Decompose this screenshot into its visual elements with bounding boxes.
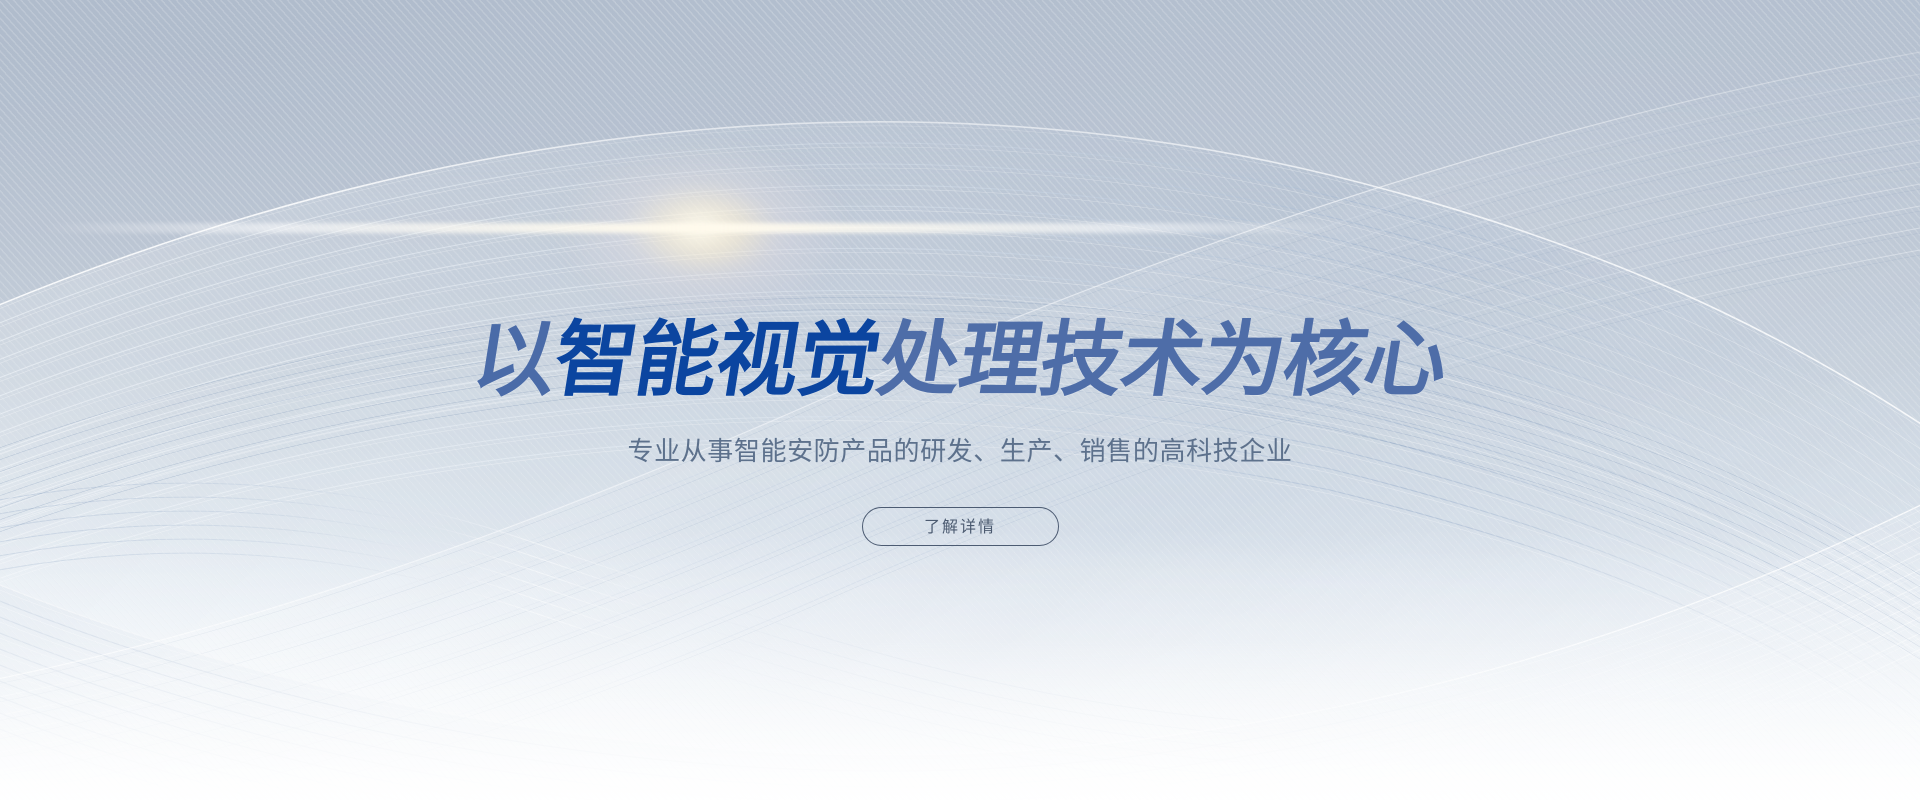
page-subtitle: 专业从事智能安防产品的研发、生产、销售的高科技企业: [0, 434, 1920, 470]
learn-more-button[interactable]: 了解详情: [862, 507, 1059, 546]
headline-segment-2: 智能视觉: [547, 313, 886, 409]
hero-content: 以智能视觉处理技术为核心 专业从事智能安防产品的研发、生产、销售的高科技企业 了…: [0, 0, 1920, 800]
headline-segment-3: 处理技术为核心: [871, 313, 1453, 409]
page-title: 以智能视觉处理技术为核心: [0, 313, 1920, 409]
cta-container: 了解详情: [0, 507, 1920, 546]
headline-segment-1: 以: [466, 313, 562, 409]
hero-banner: 以智能视觉处理技术为核心 专业从事智能安防产品的研发、生产、销售的高科技企业 了…: [0, 0, 1920, 800]
